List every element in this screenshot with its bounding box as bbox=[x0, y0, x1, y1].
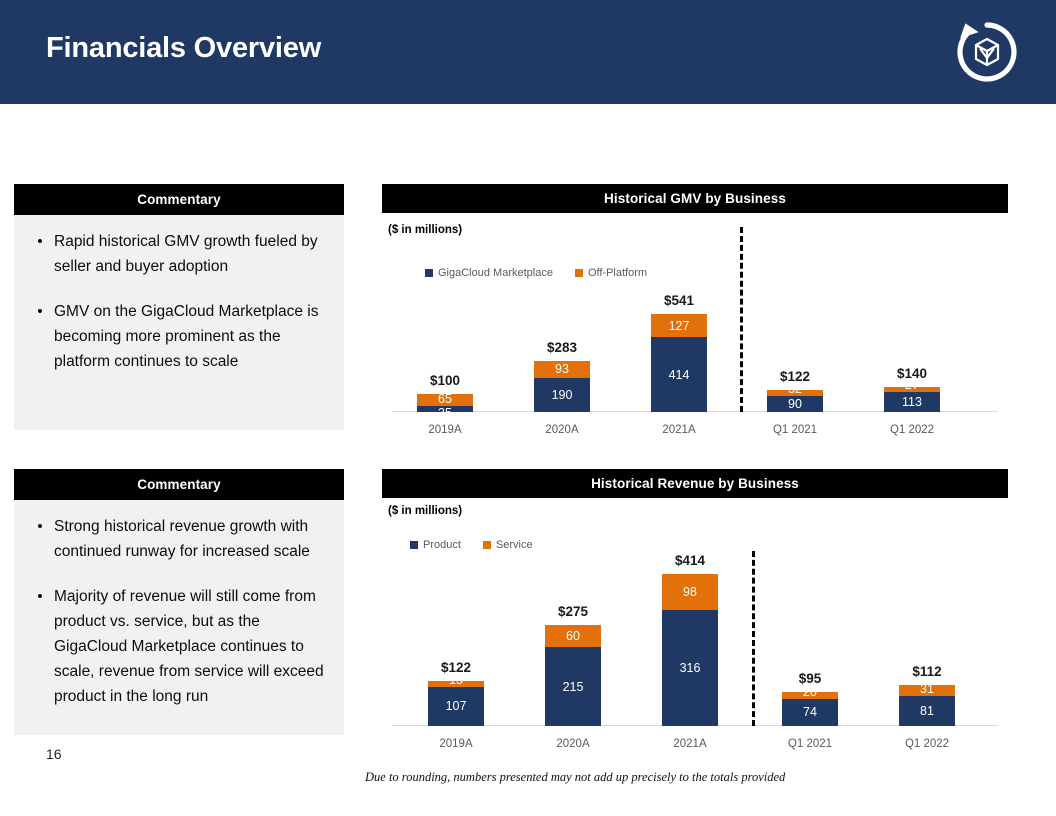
bar-total-label: $275 bbox=[517, 604, 629, 619]
period-divider-dashed-line bbox=[740, 227, 746, 412]
revenue-chart-title-bar: Historical Revenue by Business bbox=[382, 469, 1008, 498]
bar-total-label: $140 bbox=[856, 366, 968, 381]
list-item: • GMV on the GigaCloud Marketplace is be… bbox=[26, 299, 334, 374]
x-axis-label: Q1 2021 bbox=[748, 738, 872, 750]
bar-segment-off-platform: 127 bbox=[651, 314, 707, 337]
legend-label: Service bbox=[496, 539, 533, 551]
bar-total-label: $95 bbox=[754, 671, 866, 686]
commentary-top-panel: • Rapid historical GMV growth fueled by … bbox=[14, 215, 344, 430]
legend-item-service: Service bbox=[483, 539, 533, 551]
x-axis-label: 2021A bbox=[628, 738, 752, 750]
bar-total-label: $122 bbox=[400, 660, 512, 675]
footnote-rounding-disclaimer: Due to rounding, numbers presented may n… bbox=[365, 770, 785, 785]
legend-label: Product bbox=[423, 539, 461, 551]
bar-total-label: $414 bbox=[634, 553, 746, 568]
x-axis-label: 2020A bbox=[511, 738, 635, 750]
bar-total-label: $283 bbox=[506, 340, 618, 355]
bar-segment-product: 81 bbox=[899, 696, 955, 726]
commentary-bottom-title-bar: Commentary bbox=[14, 469, 344, 500]
commentary-bottom-title: Commentary bbox=[137, 477, 221, 492]
page-number: 16 bbox=[46, 746, 62, 762]
bar-segment-off-platform: 65 bbox=[417, 394, 473, 406]
list-item: • Rapid historical GMV growth fueled by … bbox=[26, 229, 334, 279]
bar-segment-gigacloud-marketplace: 414 bbox=[651, 337, 707, 412]
bar-2019a[interactable]: 3565$1002019A bbox=[417, 394, 473, 412]
x-axis-label: Q1 2022 bbox=[865, 738, 989, 750]
bar-segment-product: 215 bbox=[545, 647, 601, 726]
list-item: • Majority of revenue will still come fr… bbox=[26, 584, 334, 709]
legend-swatch-icon bbox=[410, 541, 418, 549]
bar-2019a[interactable]: 10715$1222019A bbox=[428, 681, 484, 726]
bar-total-label: $541 bbox=[623, 293, 735, 308]
bar-segment-off-platform: 32 bbox=[767, 390, 823, 396]
bullet-icon: • bbox=[26, 229, 54, 254]
bar-segment-service: 98 bbox=[662, 574, 718, 610]
gigacloud-box-refresh-logo bbox=[953, 18, 1021, 86]
commentary-bottom-panel: • Strong historical revenue growth with … bbox=[14, 500, 344, 735]
bar-segment-service: 20 bbox=[782, 692, 838, 699]
bar-segment-gigacloud-marketplace: 113 bbox=[884, 392, 940, 412]
bar-segment-off-platform: 93 bbox=[534, 361, 590, 378]
bar-2021a[interactable]: 414127$5412021A bbox=[651, 314, 707, 412]
bar-segment-off-platform: 27 bbox=[884, 387, 940, 392]
bar-2020a[interactable]: 19093$2832020A bbox=[534, 361, 590, 412]
bar-2020a[interactable]: 21560$2752020A bbox=[545, 625, 601, 726]
bar-total-label: $122 bbox=[739, 369, 851, 384]
bar-total-label: $112 bbox=[871, 664, 983, 679]
x-axis-label: Q1 2022 bbox=[850, 424, 974, 436]
bar-q1-2021[interactable]: 9032$122Q1 2021 bbox=[767, 390, 823, 412]
bar-segment-gigacloud-marketplace: 35 bbox=[417, 406, 473, 412]
bar-segment-gigacloud-marketplace: 90 bbox=[767, 396, 823, 412]
revenue-plot-area: 10715$1222019A21560$2752020A31698$414202… bbox=[392, 551, 998, 726]
commentary-bullet-text: Strong historical revenue growth with co… bbox=[54, 514, 334, 564]
bar-segment-product: 74 bbox=[782, 699, 838, 726]
x-axis-label: 2019A bbox=[383, 424, 507, 436]
bar-segment-service: 31 bbox=[899, 685, 955, 696]
list-item: • Strong historical revenue growth with … bbox=[26, 514, 334, 564]
bar-segment-product: 316 bbox=[662, 610, 718, 726]
x-axis-label: 2021A bbox=[617, 424, 741, 436]
x-axis-label: Q1 2021 bbox=[733, 424, 857, 436]
bar-segment-service: 15 bbox=[428, 681, 484, 687]
bar-total-label: $100 bbox=[389, 373, 501, 388]
revenue-legend: Product Service bbox=[410, 539, 533, 551]
x-axis-label: 2020A bbox=[500, 424, 624, 436]
legend-item-product: Product bbox=[410, 539, 461, 551]
revenue-units-label: ($ in millions) bbox=[388, 505, 462, 517]
commentary-top-title-bar: Commentary bbox=[14, 184, 344, 215]
bar-q1-2021[interactable]: 7420$95Q1 2021 bbox=[782, 692, 838, 727]
bar-2021a[interactable]: 31698$4142021A bbox=[662, 574, 718, 726]
gmv-plot-area: 3565$1002019A19093$2832020A414127$541202… bbox=[392, 232, 998, 412]
commentary-bullet-text: Rapid historical GMV growth fueled by se… bbox=[54, 229, 334, 279]
commentary-bullet-text: GMV on the GigaCloud Marketplace is beco… bbox=[54, 299, 334, 374]
period-divider-dashed-line bbox=[752, 551, 758, 726]
revenue-chart-title: Historical Revenue by Business bbox=[591, 476, 799, 491]
bullet-icon: • bbox=[26, 584, 54, 609]
bar-segment-gigacloud-marketplace: 190 bbox=[534, 378, 590, 412]
bar-segment-service: 60 bbox=[545, 625, 601, 647]
commentary-top-title: Commentary bbox=[137, 192, 221, 207]
bullet-icon: • bbox=[26, 299, 54, 324]
x-axis-label: 2019A bbox=[394, 738, 518, 750]
page-title: Financials Overview bbox=[46, 32, 321, 65]
commentary-bullet-text: Majority of revenue will still come from… bbox=[54, 584, 334, 709]
commentary-top-bullet-list: • Rapid historical GMV growth fueled by … bbox=[26, 229, 334, 394]
bar-q1-2022[interactable]: 11327$140Q1 2022 bbox=[884, 387, 940, 412]
commentary-bottom-bullet-list: • Strong historical revenue growth with … bbox=[26, 514, 334, 729]
gmv-chart-title-bar: Historical GMV by Business bbox=[382, 184, 1008, 213]
bullet-icon: • bbox=[26, 514, 54, 539]
gmv-chart-title: Historical GMV by Business bbox=[604, 191, 786, 206]
legend-swatch-icon bbox=[483, 541, 491, 549]
bar-q1-2022[interactable]: 8131$112Q1 2022 bbox=[899, 685, 955, 726]
bar-segment-product: 107 bbox=[428, 687, 484, 726]
